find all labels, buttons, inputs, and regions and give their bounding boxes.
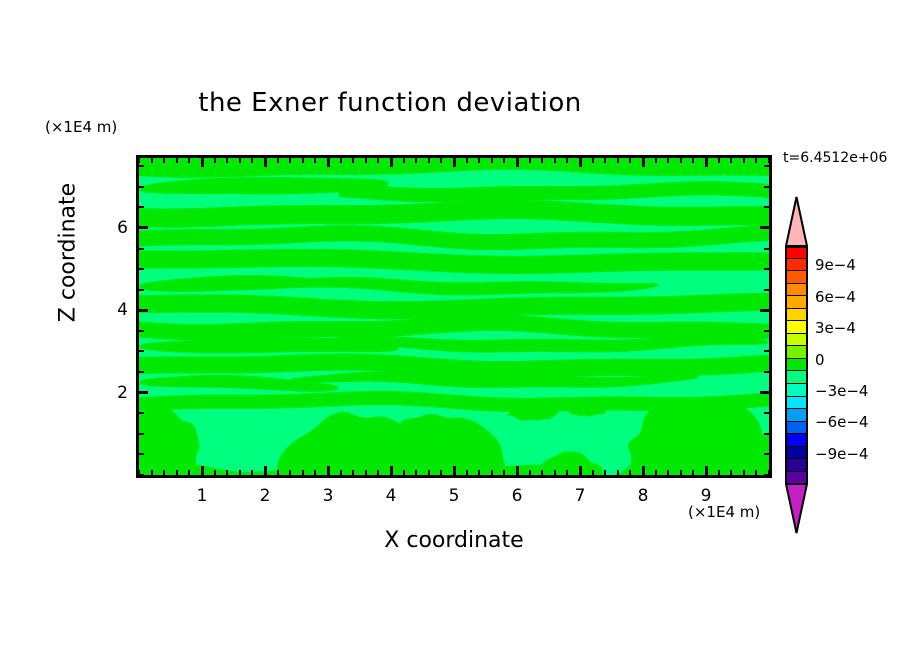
y-axis-minor-tick-right — [764, 371, 770, 373]
x-axis-tick-label: 1 — [197, 486, 208, 506]
x-axis-tick-label: 3 — [323, 486, 334, 506]
x-axis-minor-tick — [617, 470, 619, 476]
x-axis-minor-tick-top — [302, 157, 304, 163]
x-axis-minor-tick-top — [188, 157, 190, 163]
contour-plot-area[interactable] — [136, 155, 772, 478]
x-axis-minor-tick-top — [138, 157, 140, 163]
x-axis-minor-tick — [692, 470, 694, 476]
x-axis-minor-tick — [277, 470, 279, 476]
colorbar-band — [785, 346, 808, 359]
x-axis-tick-label: 2 — [260, 486, 271, 506]
y-axis-minor-tick-right — [764, 330, 770, 332]
x-axis-minor-tick — [251, 470, 253, 476]
colorbar-band — [785, 472, 808, 485]
colorbar[interactable]: 9e−46e−43e−40−3e−4−6e−4−9e−4 — [783, 196, 901, 526]
colorbar-under-cap — [785, 484, 808, 534]
y-axis-minor-tick — [138, 412, 144, 414]
time-stamp-annotation: t=6.4512e+06 — [783, 150, 887, 166]
x-axis-major-tick-top — [390, 157, 393, 167]
x-axis-minor-tick-top — [151, 157, 153, 163]
x-axis-tick-label: 7 — [575, 486, 586, 506]
x-axis-major-tick-top — [705, 157, 708, 167]
colorbar-band — [785, 309, 808, 322]
x-axis-tick-label: 8 — [638, 486, 649, 506]
x-axis-minor-tick — [226, 470, 228, 476]
x-axis-minor-tick — [680, 470, 682, 476]
x-axis-minor-tick-top — [604, 157, 606, 163]
x-axis-minor-tick — [289, 470, 291, 476]
x-axis-minor-tick — [629, 470, 631, 476]
y-axis-major-tick-right — [760, 309, 770, 312]
x-axis-minor-tick — [503, 470, 505, 476]
x-axis-major-tick-top — [264, 157, 267, 167]
x-axis-minor-tick — [352, 470, 354, 476]
y-axis-minor-tick-right — [764, 165, 770, 167]
colorbar-tick-label: −9e−4 — [815, 445, 868, 463]
y-axis-minor-tick — [138, 186, 144, 188]
y-axis-major-tick-right — [760, 391, 770, 394]
x-axis-minor-tick-top — [403, 157, 405, 163]
x-axis-minor-tick-top — [554, 157, 556, 163]
x-axis-major-tick-top — [642, 157, 645, 167]
x-axis-tick-label: 6 — [512, 486, 523, 506]
colorbar-band — [785, 271, 808, 284]
colorbar-band — [785, 447, 808, 460]
x-axis-minor-tick — [403, 470, 405, 476]
y-axis-minor-tick-right — [764, 248, 770, 250]
x-axis-minor-tick — [743, 470, 745, 476]
x-axis-minor-tick-top — [566, 157, 568, 163]
colorbar-band-stack — [785, 246, 808, 484]
y-axis-minor-tick-right — [764, 289, 770, 291]
x-axis-minor-tick — [176, 470, 178, 476]
colorbar-tick-label: 0 — [815, 351, 825, 369]
x-axis-major-tick — [327, 466, 330, 476]
colorbar-band — [785, 321, 808, 334]
x-axis-major-tick-top — [453, 157, 456, 167]
x-axis-minor-tick-top — [768, 157, 770, 163]
x-axis-minor-tick — [340, 470, 342, 476]
colorbar-band — [785, 259, 808, 272]
x-axis-minor-tick — [440, 470, 442, 476]
x-axis-title: X coordinate — [136, 528, 772, 553]
y-axis-major-tick — [138, 391, 148, 394]
contour-field-canvas — [139, 158, 769, 475]
x-axis-minor-tick — [554, 470, 556, 476]
y-axis-tick-label: 6 — [117, 218, 128, 238]
y-axis-minor-tick-right — [764, 433, 770, 435]
x-axis-minor-tick — [491, 470, 493, 476]
x-axis-minor-tick-top — [755, 157, 757, 163]
x-axis-minor-tick-top — [541, 157, 543, 163]
x-axis-minor-tick-top — [239, 157, 241, 163]
x-axis-major-tick-top — [327, 157, 330, 167]
x-axis-major-tick — [705, 466, 708, 476]
y-axis-tick-label: 2 — [117, 383, 128, 403]
x-axis-minor-tick-top — [655, 157, 657, 163]
y-axis-minor-tick — [138, 474, 144, 476]
y-axis-minor-tick-right — [764, 453, 770, 455]
y-axis-major-tick-right — [760, 226, 770, 229]
colorbar-band — [785, 334, 808, 347]
x-axis-minor-tick — [478, 470, 480, 476]
x-axis-major-tick-top — [201, 157, 204, 167]
x-axis-minor-tick-top — [415, 157, 417, 163]
y-axis-major-tick — [138, 226, 148, 229]
x-axis-minor-tick-top — [176, 157, 178, 163]
x-axis-major-tick — [642, 466, 645, 476]
x-axis-minor-tick-top — [428, 157, 430, 163]
x-axis-minor-tick — [428, 470, 430, 476]
x-axis-minor-tick — [755, 470, 757, 476]
colorbar-band — [785, 284, 808, 297]
y-axis-tick-label: 4 — [117, 300, 128, 320]
x-axis-minor-tick — [365, 470, 367, 476]
y-axis-minor-tick-right — [764, 268, 770, 270]
x-axis-minor-tick — [239, 470, 241, 476]
colorbar-band — [785, 409, 808, 422]
x-axis-minor-tick-top — [692, 157, 694, 163]
y-axis-title: Z coordinate — [56, 133, 81, 373]
y-axis-minor-tick — [138, 165, 144, 167]
x-axis-unit-label: (×1E4 m) — [688, 503, 760, 521]
colorbar-tick-label: 3e−4 — [815, 319, 856, 337]
colorbar-tick-label: −3e−4 — [815, 382, 868, 400]
colorbar-band — [785, 359, 808, 372]
y-axis-minor-tick — [138, 350, 144, 352]
x-axis-major-tick — [453, 466, 456, 476]
x-axis-major-tick — [390, 466, 393, 476]
x-axis-minor-tick-top — [617, 157, 619, 163]
x-axis-minor-tick — [188, 470, 190, 476]
x-axis-minor-tick — [604, 470, 606, 476]
colorbar-band — [785, 246, 808, 259]
x-axis-minor-tick-top — [503, 157, 505, 163]
x-axis-minor-tick-top — [214, 157, 216, 163]
x-axis-minor-tick — [667, 470, 669, 476]
x-axis-major-tick-top — [516, 157, 519, 167]
x-axis-tick-label: 4 — [386, 486, 397, 506]
x-axis-minor-tick — [151, 470, 153, 476]
x-axis-minor-tick-top — [277, 157, 279, 163]
x-axis-minor-tick-top — [251, 157, 253, 163]
x-axis-minor-tick — [768, 470, 770, 476]
x-axis-minor-tick — [566, 470, 568, 476]
x-axis-minor-tick-top — [226, 157, 228, 163]
x-axis-minor-tick — [415, 470, 417, 476]
colorbar-tick-label: 9e−4 — [815, 256, 856, 274]
x-axis-minor-tick — [138, 470, 140, 476]
colorbar-band — [785, 296, 808, 309]
x-axis-minor-tick-top — [592, 157, 594, 163]
x-axis-minor-tick-top — [680, 157, 682, 163]
x-axis-minor-tick — [302, 470, 304, 476]
y-axis-minor-tick — [138, 433, 144, 435]
colorbar-band — [785, 397, 808, 410]
colorbar-tick-label: −6e−4 — [815, 413, 868, 431]
x-axis-minor-tick-top — [529, 157, 531, 163]
y-axis-minor-tick-right — [764, 350, 770, 352]
colorbar-over-cap — [785, 196, 808, 246]
x-axis-minor-tick-top — [314, 157, 316, 163]
y-axis-major-tick — [138, 309, 148, 312]
x-axis-minor-tick — [592, 470, 594, 476]
x-axis-minor-tick — [314, 470, 316, 476]
y-axis-minor-tick — [138, 206, 144, 208]
x-axis-major-tick — [201, 466, 204, 476]
y-axis-minor-tick-right — [764, 186, 770, 188]
x-axis-minor-tick — [541, 470, 543, 476]
x-axis-minor-tick-top — [163, 157, 165, 163]
x-axis-minor-tick-top — [365, 157, 367, 163]
y-axis-minor-tick-right — [764, 474, 770, 476]
x-axis-minor-tick-top — [289, 157, 291, 163]
x-axis-minor-tick-top — [352, 157, 354, 163]
colorbar-band — [785, 384, 808, 397]
x-axis-minor-tick-top — [718, 157, 720, 163]
x-axis-minor-tick — [730, 470, 732, 476]
y-axis-minor-tick-right — [764, 206, 770, 208]
x-axis-tick-label: 5 — [449, 486, 460, 506]
x-axis-major-tick — [516, 466, 519, 476]
x-axis-minor-tick-top — [340, 157, 342, 163]
x-axis-minor-tick — [163, 470, 165, 476]
x-axis-minor-tick-top — [377, 157, 379, 163]
colorbar-band — [785, 371, 808, 384]
colorbar-band — [785, 459, 808, 472]
x-axis-minor-tick-top — [629, 157, 631, 163]
y-axis-minor-tick-right — [764, 412, 770, 414]
x-axis-minor-tick — [466, 470, 468, 476]
x-axis-major-tick — [579, 466, 582, 476]
y-axis-minor-tick — [138, 248, 144, 250]
y-axis-minor-tick — [138, 453, 144, 455]
x-axis-minor-tick — [529, 470, 531, 476]
x-axis-major-tick — [264, 466, 267, 476]
x-axis-minor-tick-top — [491, 157, 493, 163]
colorbar-band — [785, 422, 808, 435]
x-axis-minor-tick — [377, 470, 379, 476]
page-title: the Exner function deviation — [0, 88, 780, 118]
y-axis-minor-tick — [138, 289, 144, 291]
x-axis-minor-tick-top — [743, 157, 745, 163]
x-axis-minor-tick-top — [730, 157, 732, 163]
x-axis-minor-tick-top — [466, 157, 468, 163]
x-axis-major-tick-top — [579, 157, 582, 167]
x-axis-minor-tick — [655, 470, 657, 476]
colorbar-band — [785, 434, 808, 447]
y-axis-minor-tick — [138, 371, 144, 373]
x-axis-minor-tick-top — [440, 157, 442, 163]
y-axis-minor-tick — [138, 330, 144, 332]
y-axis-minor-tick — [138, 268, 144, 270]
x-axis-minor-tick — [718, 470, 720, 476]
x-axis-minor-tick-top — [478, 157, 480, 163]
x-axis-minor-tick — [214, 470, 216, 476]
x-axis-minor-tick-top — [667, 157, 669, 163]
colorbar-tick-label: 6e−4 — [815, 288, 856, 306]
